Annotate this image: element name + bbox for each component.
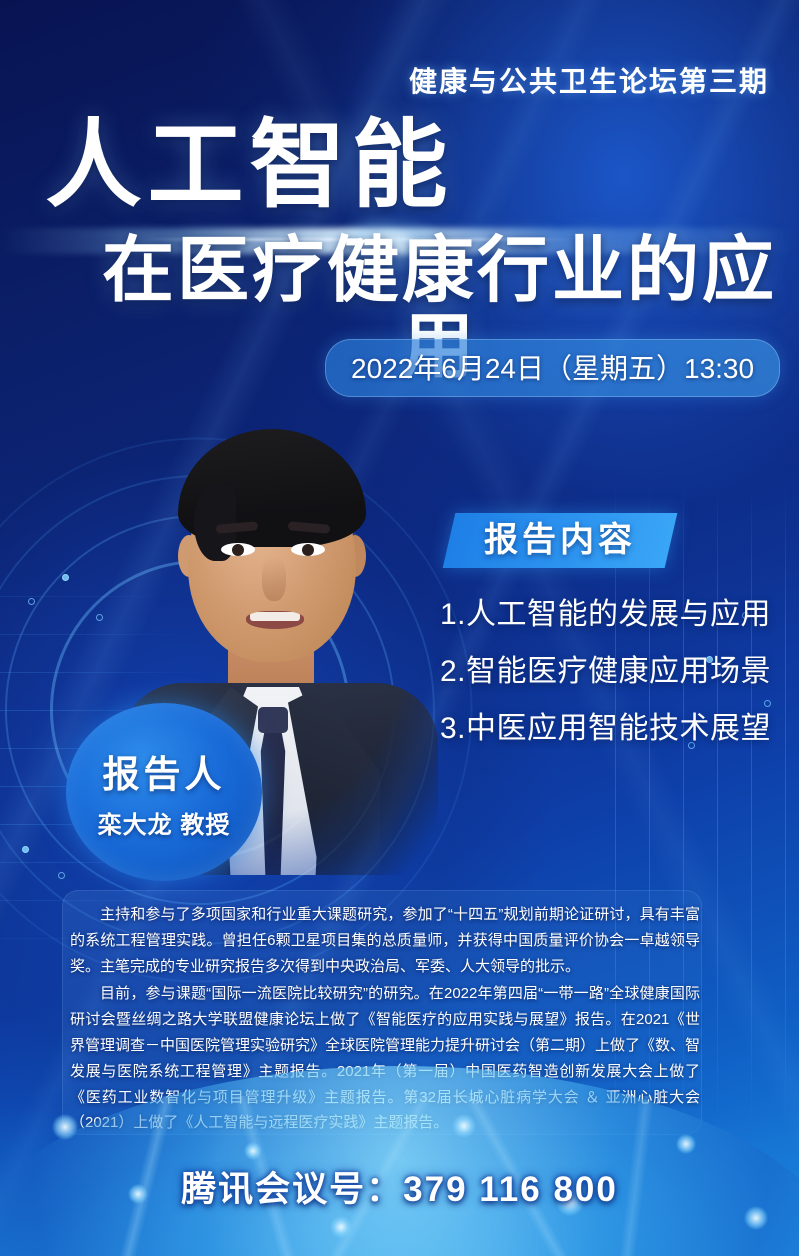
list-item: 1.人工智能的发展与应用 [440, 600, 780, 630]
forum-series-title: 健康与公共卫生论坛第三期 [409, 60, 769, 100]
network-node-icon [452, 1114, 476, 1138]
circuit-node-icon [96, 614, 103, 621]
report-content-heading: 报告内容 [443, 513, 678, 568]
portrait-nose [262, 557, 286, 601]
report-content-heading-label: 报告内容 [449, 513, 671, 568]
portrait-teeth [250, 612, 300, 621]
circuit-node-icon [62, 574, 69, 581]
page-title-line1: 人工智能 [0, 118, 799, 214]
speaker-name-label: 栾大龙 教授 [98, 805, 231, 840]
circuit-node-icon [22, 846, 29, 853]
meeting-number: 腾讯会议号：379 116 800 [0, 1161, 799, 1212]
list-item: 3.中医应用智能技术展望 [440, 714, 780, 744]
network-node-icon [244, 1142, 262, 1160]
portrait-eye-right [291, 543, 325, 556]
portrait-mouth [246, 611, 304, 629]
speaker-role-label: 报告人 [103, 744, 226, 798]
network-node-icon [676, 1134, 696, 1154]
circuit-node-icon [28, 598, 35, 605]
poster-canvas: 健康与公共卫生论坛第三期 人工智能 在医疗健康行业的应用 2022年6月24日（… [0, 0, 799, 1256]
event-date-badge: 2022年6月24日（星期五）13:30 [325, 339, 780, 397]
list-item: 2.智能医疗健康应用场景 [440, 657, 780, 687]
network-node-icon [330, 1216, 352, 1238]
report-content-list: 1.人工智能的发展与应用 2.智能医疗健康应用场景 3.中医应用智能技术展望 [440, 600, 780, 771]
speaker-badge: 报告人 栾大龙 教授 [66, 703, 262, 881]
circuit-node-icon [58, 872, 65, 879]
bio-paragraph-1: 主持和参与了多项国家和行业重大课题研究，参加了“十四五”规划前期论证研讨，具有丰… [70, 902, 700, 979]
portrait-hair [178, 429, 366, 547]
portrait-tie-knot [258, 707, 288, 733]
portrait-eye-left [221, 543, 255, 556]
network-node-icon [52, 1114, 78, 1140]
